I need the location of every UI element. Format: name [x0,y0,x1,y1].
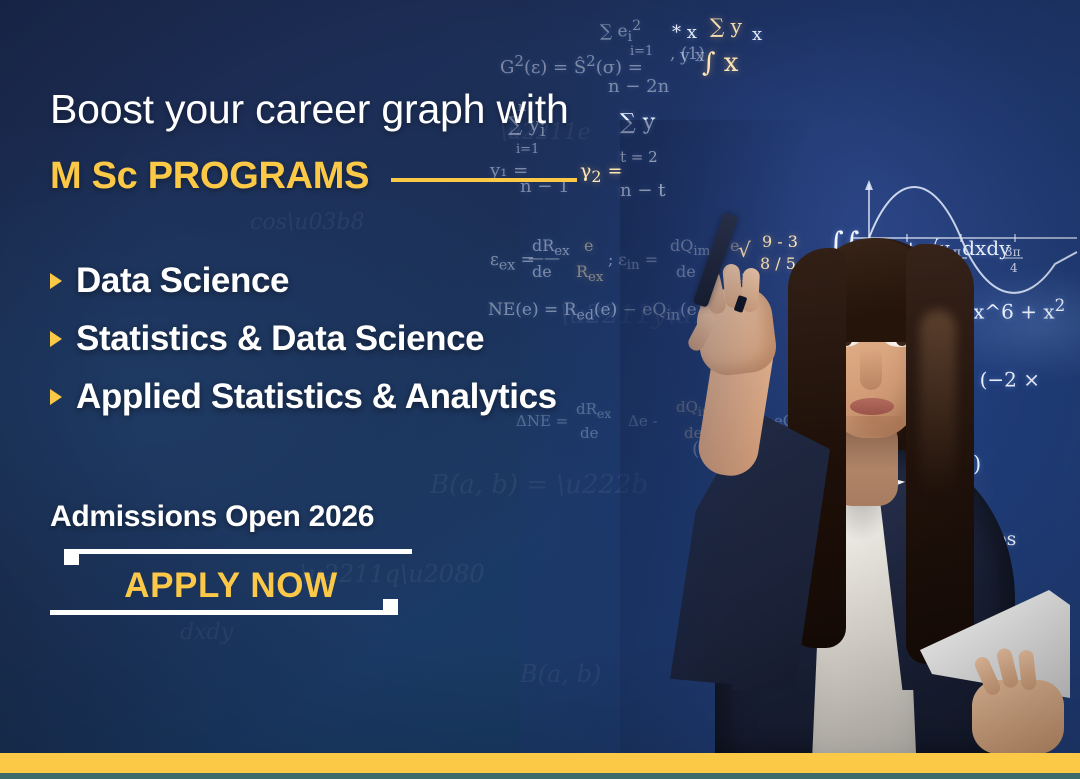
subhead-underline [391,178,577,182]
bullet-triangle-icon [50,331,62,347]
program-list: Data Science Statistics & Data Science A… [50,252,557,426]
bottom-band-yellow [0,753,1080,773]
bullet-triangle-icon [50,273,62,289]
program-label: Statistics & Data Science [76,319,484,359]
list-item[interactable]: Applied Statistics & Analytics [50,368,557,426]
list-item[interactable]: Data Science [50,252,557,310]
headline: Boost your career graph with [50,86,569,133]
list-item[interactable]: Statistics & Data Science [50,310,557,368]
apply-now-button[interactable]: APPLY NOW [50,549,412,615]
admissions-text: Admissions Open 2026 [50,500,374,534]
program-label: Data Science [76,261,289,301]
cta-frame-top-tab [64,549,79,565]
bullet-triangle-icon [50,389,62,405]
program-label: Applied Statistics & Analytics [76,377,557,417]
cta-frame-bottom-tab [383,599,398,615]
subhead: M Sc PROGRAMS [50,155,369,198]
promotional-banner: B(a, b) = \u222b \u2211e \u2211q\u2080 d… [0,0,1080,779]
cta-frame-top-bar [64,549,412,554]
subhead-row: M Sc PROGRAMS [50,155,577,198]
cta-frame-bottom-bar [50,610,398,615]
bottom-band-teal [0,773,1080,779]
apply-now-label: APPLY NOW [50,566,412,606]
